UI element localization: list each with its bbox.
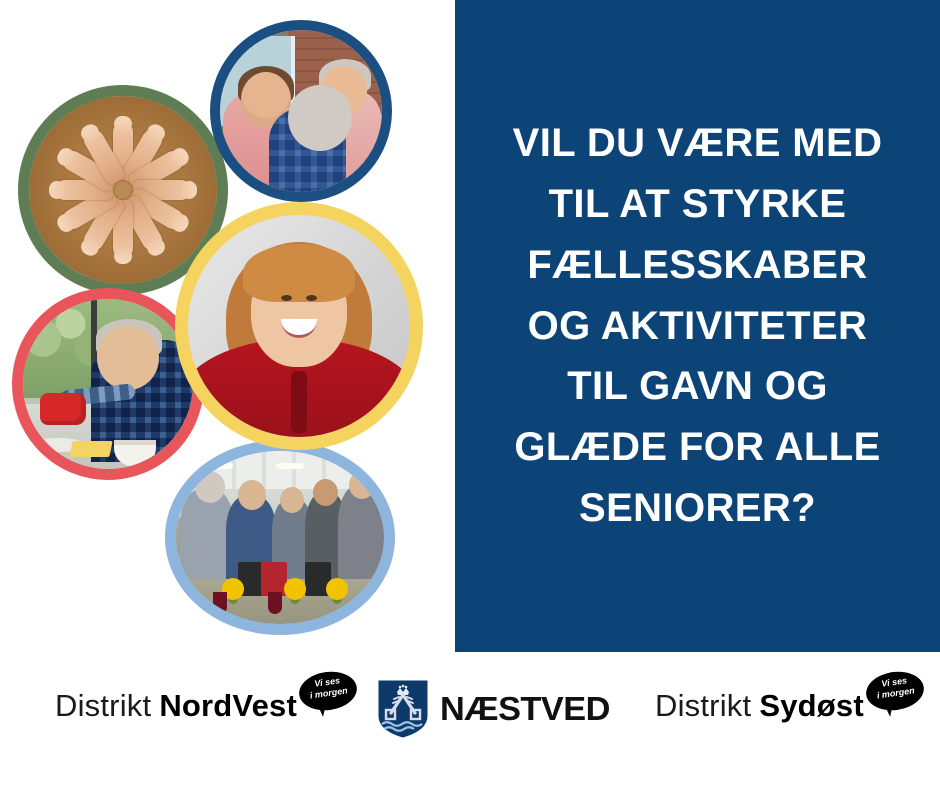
photo-smiling-woman-portrait-image bbox=[188, 215, 410, 437]
photo-seniors-event bbox=[165, 440, 395, 635]
socialising-artwork bbox=[220, 30, 382, 192]
headline-panel: VIL DU VÆRE MED TIL AT STYRKE FÆLLESSKAB… bbox=[455, 0, 940, 652]
naestved-coat-of-arms-icon bbox=[378, 680, 428, 738]
photo-seniors-socialising-image bbox=[220, 30, 382, 192]
event-artwork bbox=[176, 451, 384, 624]
distrikt-sydost-word-bold: Sydøst bbox=[759, 688, 864, 724]
photo-seniors-socialising bbox=[210, 20, 392, 202]
photo-smiling-woman-portrait bbox=[175, 202, 423, 450]
naestved-wordmark: NÆSTVED bbox=[440, 690, 610, 728]
logo-distrikt-nordvest[interactable]: Distrikt NordVest Vi ses i morgen bbox=[55, 688, 357, 724]
distrikt-nordvest-word-light: Distrikt bbox=[55, 688, 151, 724]
logo-distrikt-sydost[interactable]: Distrikt Sydøst Vi ses i morgen bbox=[655, 688, 924, 724]
logo-naestved-kommune[interactable]: NÆSTVED bbox=[378, 680, 603, 738]
speech-bubble-icon-sydost: Vi ses i morgen bbox=[866, 672, 924, 716]
distrikt-sydost-word-light: Distrikt bbox=[655, 688, 751, 724]
breakfast-artwork bbox=[23, 299, 193, 469]
footer-logo-bar: Distrikt NordVest Vi ses i morgen bbox=[0, 652, 940, 788]
photo-senior-breakfast-image bbox=[23, 299, 193, 469]
speech-bubble-icon-nordvest: Vi ses i morgen bbox=[299, 672, 357, 716]
photo-seniors-event-image bbox=[176, 451, 384, 624]
poster-canvas: VIL DU VÆRE MED TIL AT STYRKE FÆLLESSKAB… bbox=[0, 0, 940, 788]
distrikt-nordvest-word-bold: NordVest bbox=[159, 688, 297, 724]
portrait-artwork bbox=[188, 215, 410, 437]
photo-collage bbox=[0, 0, 455, 652]
headline-text: VIL DU VÆRE MED TIL AT STYRKE FÆLLESSKAB… bbox=[513, 113, 883, 539]
